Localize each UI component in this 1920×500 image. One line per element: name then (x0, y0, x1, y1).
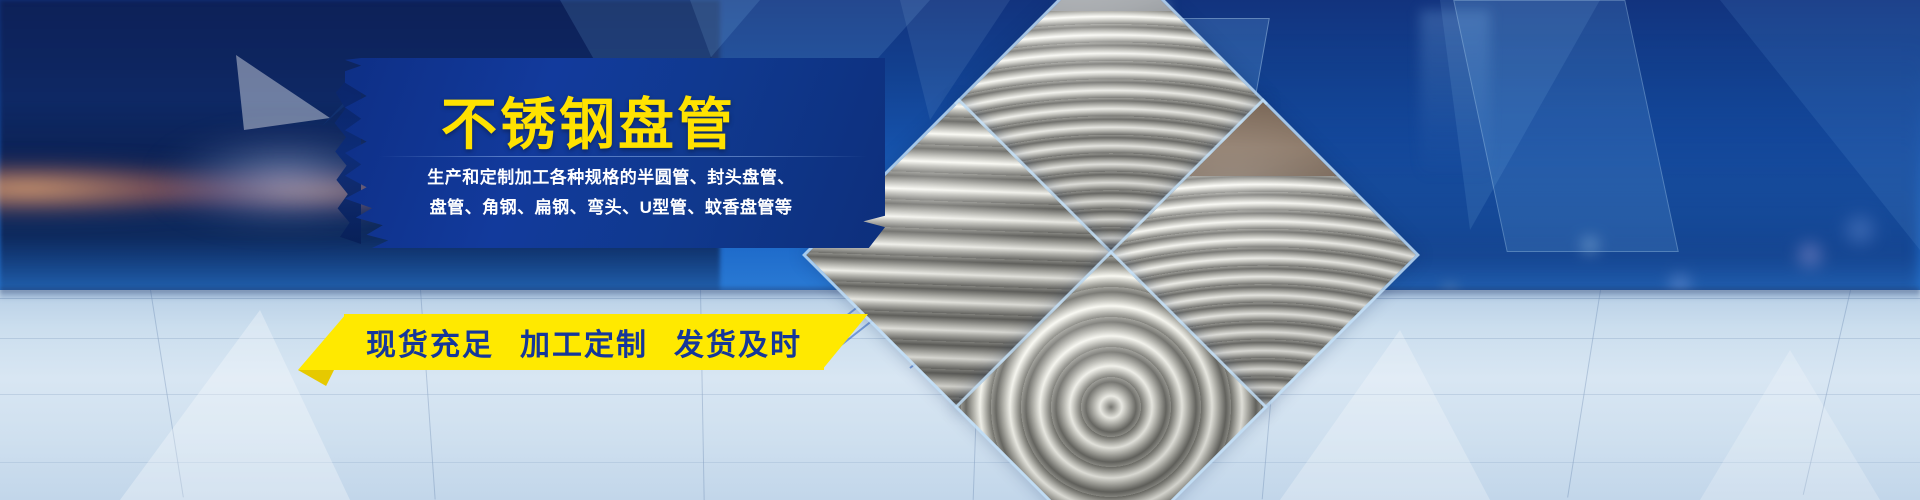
subtitle-line-1: 生产和定制加工各种规格的半圆管、封头盘管、 (345, 164, 877, 192)
page-title: 不锈钢盘管 (441, 80, 736, 161)
ribbon-item-custom: 加工定制 (520, 320, 648, 364)
ribbon-item-shipping: 发货及时 (674, 320, 802, 364)
feature-ribbon: 现货充足 加工定制 发货及时 (344, 314, 824, 370)
product-photo-diamond-cluster (838, 0, 1378, 500)
headline-plaque: 不锈钢盘管 生产和定制加工各种规格的半圆管、封头盘管、 盘管、角钢、扁钢、弯头、… (345, 58, 885, 248)
ribbon-item-stock: 现货充足 (366, 320, 494, 364)
ribbon-text-row: 现货充足 加工定制 发货及时 (344, 314, 824, 370)
subtitle-line-2: 盘管、角钢、扁钢、弯头、U型管、蚊香盘管等 (345, 194, 877, 222)
product-hero-banner: 不锈钢盘管 生产和定制加工各种规格的半圆管、封头盘管、 盘管、角钢、扁钢、弯头、… (0, 0, 1920, 500)
